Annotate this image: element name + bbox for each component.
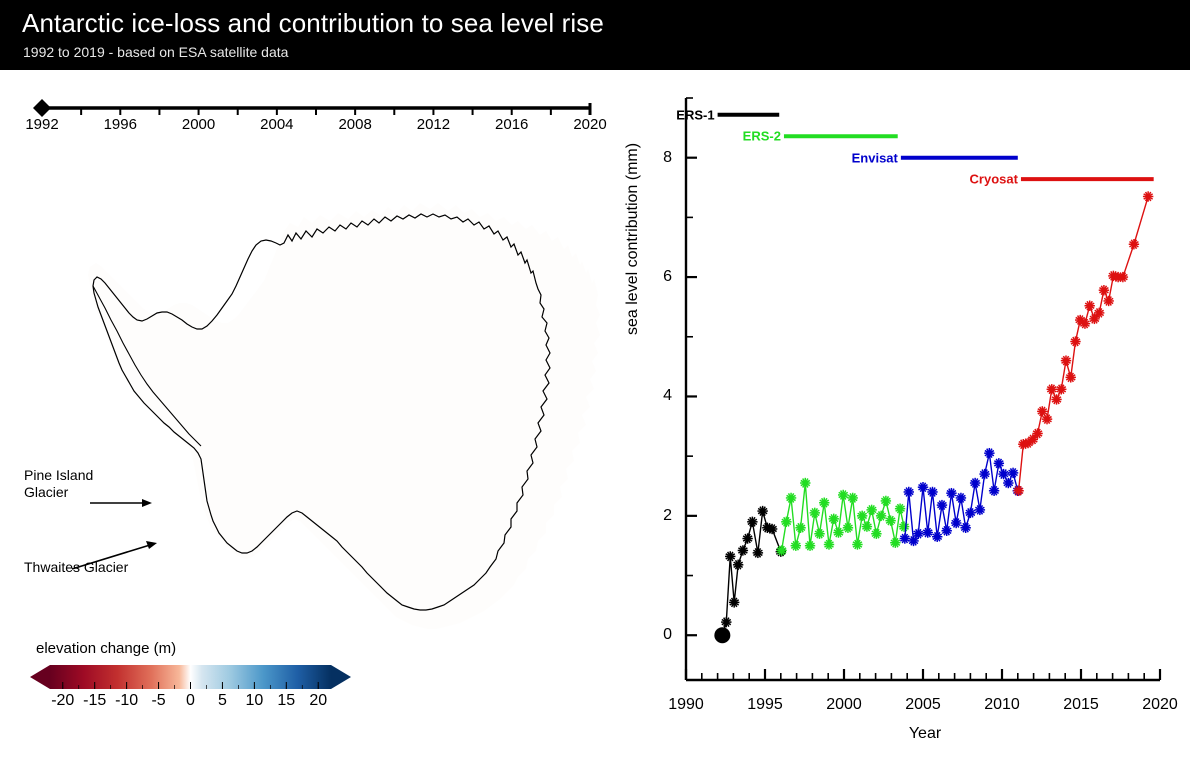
legend-label-envisat: Envisat [852,150,898,165]
annotation-line-1: Thwaites Glacier [24,559,128,575]
ice-elevation-raster [88,203,600,629]
legend-label-cryosat: Cryosat [970,172,1018,187]
figure-root: Antarctic ice-loss and contribution to s… [0,0,1190,774]
colorbar-tick-label: 15 [277,692,295,710]
colorbar-gradient [28,664,353,690]
y-axis-label: sea level contribution (mm) [624,143,642,335]
sea-level-chart: sea level contribution (mm) Year 0246819… [630,80,1180,770]
series-ers-1 [717,506,786,641]
colorbar-title: elevation change (m) [36,640,176,657]
colorbar-tick-label: 10 [245,692,263,710]
series-cryosat [1013,191,1153,496]
series-envisat [900,448,1023,546]
colorbar-tick-label: -10 [115,692,138,710]
annotation-pine-island-glacier: Pine Island Glacier [24,467,93,501]
timeline-year-label: 2016 [495,116,528,133]
antarctica-outline [20,155,630,655]
colorbar-tick-label: -20 [51,692,74,710]
origin-marker [714,627,730,643]
year-timeline: 19921996200020042008201220162020 [20,90,620,150]
antarctica-map: Pine Island Glacier Thwaites Glacier [20,155,630,655]
x-axis-label: Year [909,725,941,743]
colorbar-tick-label: -15 [83,692,106,710]
series-ers-2 [776,478,909,556]
timeline-year-label: 1992 [25,116,58,133]
timeline-year-label: 2020 [573,116,606,133]
timeline-year-label: 1996 [104,116,137,133]
annotation-line-1: Pine Island [24,467,93,483]
annotation-thwaites-glacier: Thwaites Glacier [24,559,128,576]
legend-label-ers-1: ERS-1 [676,107,714,122]
timeline-year-label: 2004 [260,116,293,133]
colorbar-tick-label: 20 [309,692,327,710]
colorbar-tick-label: 5 [218,692,227,710]
timeline-year-label: 2000 [182,116,215,133]
colorbar-tick-label: -5 [151,692,165,710]
colorbar-body [28,664,353,690]
header-bar: Antarctic ice-loss and contribution to s… [0,0,1190,70]
figure-canvas: 19921996200020042008201220162020 Pine Is… [0,70,1190,774]
annotation-line-2: Glacier [24,484,68,500]
timeline-year-label: 2008 [338,116,371,133]
page-subtitle: 1992 to 2019 - based on ESA satellite da… [23,44,288,60]
page-title: Antarctic ice-loss and contribution to s… [22,8,604,39]
legend-label-ers-2: ERS-2 [743,129,781,144]
chart-svg [630,80,1180,720]
timeline-year-label: 2012 [417,116,450,133]
elevation-colorbar: elevation change (m) [28,640,358,740]
colorbar-tick-label: 0 [186,692,195,710]
